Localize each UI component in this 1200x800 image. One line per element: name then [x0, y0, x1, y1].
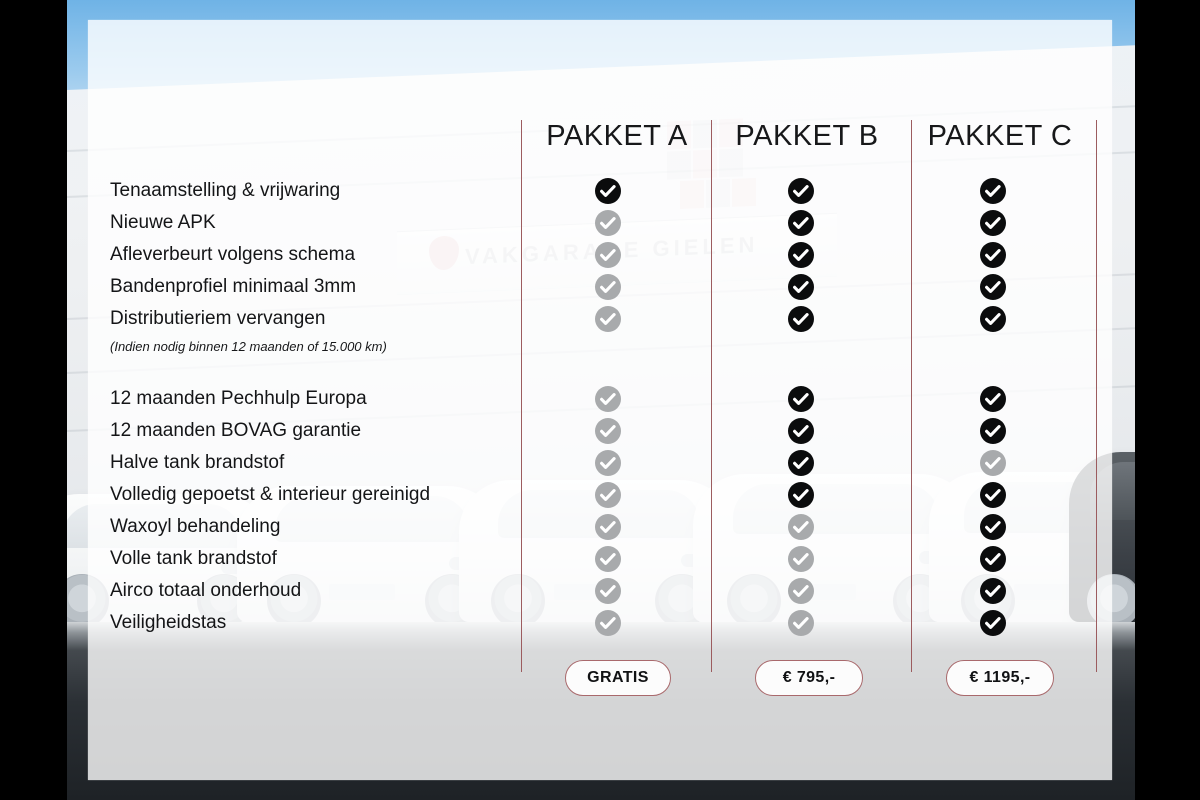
- table-row: Volle tank brandstof: [110, 543, 1110, 575]
- check-excluded-icon: [595, 386, 621, 412]
- check-included-icon: [980, 242, 1006, 268]
- price-pill-pakket-c[interactable]: € 1195,-: [946, 660, 1054, 696]
- feature-label: 12 maanden BOVAG garantie: [110, 415, 361, 447]
- check-excluded-icon: [788, 546, 814, 572]
- table-row: Nieuwe APK: [110, 207, 1110, 239]
- check-excluded-icon: [595, 306, 621, 332]
- footnote-text: (Indien nodig binnen 12 maanden of 15.00…: [110, 335, 387, 359]
- check-excluded-icon: [595, 418, 621, 444]
- check-included-icon: [980, 210, 1006, 236]
- check-included-icon: [980, 610, 1006, 636]
- check-excluded-icon: [595, 514, 621, 540]
- table-row: Halve tank brandstof: [110, 447, 1110, 479]
- feature-label: Distributieriem vervangen: [110, 303, 325, 335]
- check-excluded-icon: [595, 242, 621, 268]
- check-included-icon: [788, 450, 814, 476]
- feature-label: Bandenprofiel minimaal 3mm: [110, 271, 356, 303]
- check-included-icon: [595, 178, 621, 204]
- check-excluded-icon: [595, 210, 621, 236]
- feature-label: Volledig gepoetst & interieur gereinigd: [110, 479, 430, 511]
- check-included-icon: [980, 274, 1006, 300]
- table-row: 12 maanden Pechhulp Europa: [110, 383, 1110, 415]
- check-included-icon: [788, 386, 814, 412]
- check-excluded-icon: [595, 274, 621, 300]
- check-included-icon: [980, 306, 1006, 332]
- feature-label: Afleverbeurt volgens schema: [110, 239, 355, 271]
- table-row: Veiligheidstas: [110, 607, 1110, 639]
- table-row: Volledig gepoetst & interieur gereinigd: [110, 479, 1110, 511]
- column-header-pakket-b: PAKKET B: [712, 120, 902, 153]
- check-included-icon: [788, 482, 814, 508]
- column-header-pakket-a: PAKKET A: [522, 120, 712, 153]
- check-included-icon: [980, 514, 1006, 540]
- feature-label: Veiligheidstas: [110, 607, 226, 639]
- check-included-icon: [980, 578, 1006, 604]
- feature-label: Waxoyl behandeling: [110, 511, 280, 543]
- table-row: 12 maanden BOVAG garantie: [110, 415, 1110, 447]
- feature-label: Volle tank brandstof: [110, 543, 277, 575]
- check-excluded-icon: [595, 482, 621, 508]
- column-header-pakket-c: PAKKET C: [905, 120, 1095, 153]
- table-row: Waxoyl behandeling: [110, 511, 1110, 543]
- check-included-icon: [980, 418, 1006, 444]
- check-included-icon: [980, 546, 1006, 572]
- check-included-icon: [788, 306, 814, 332]
- table-row: Distributieriem vervangen: [110, 303, 1110, 335]
- table-row: Tenaamstelling & vrijwaring: [110, 175, 1110, 207]
- check-included-icon: [788, 210, 814, 236]
- feature-label: 12 maanden Pechhulp Europa: [110, 383, 367, 415]
- check-excluded-icon: [595, 450, 621, 476]
- check-excluded-icon: [595, 546, 621, 572]
- check-excluded-icon: [788, 514, 814, 540]
- check-included-icon: [980, 178, 1006, 204]
- check-included-icon: [788, 242, 814, 268]
- check-excluded-icon: [788, 578, 814, 604]
- screenshot-stage: VAKGARAGE GIELEN: [0, 0, 1200, 800]
- check-included-icon: [980, 482, 1006, 508]
- check-included-icon: [980, 386, 1006, 412]
- feature-label: Halve tank brandstof: [110, 447, 284, 479]
- check-excluded-icon: [595, 610, 621, 636]
- check-included-icon: [788, 274, 814, 300]
- table-row: Airco totaal onderhoud: [110, 575, 1110, 607]
- check-excluded-icon: [788, 610, 814, 636]
- footnote-row: (Indien nodig binnen 12 maanden of 15.00…: [110, 335, 1110, 361]
- check-included-icon: [788, 418, 814, 444]
- price-pill-pakket-b[interactable]: € 795,-: [755, 660, 863, 696]
- check-excluded-icon: [980, 450, 1006, 476]
- pricing-table-card: PAKKET A PAKKET B PAKKET C Tenaamstellin…: [88, 20, 1112, 780]
- table-row: Afleverbeurt volgens schema: [110, 239, 1110, 271]
- feature-label: Nieuwe APK: [110, 207, 216, 239]
- group-spacer: [110, 361, 1110, 383]
- feature-label: Airco totaal onderhoud: [110, 575, 301, 607]
- check-excluded-icon: [595, 578, 621, 604]
- table-row: Bandenprofiel minimaal 3mm: [110, 271, 1110, 303]
- package-comparison-table: PAKKET A PAKKET B PAKKET C Tenaamstellin…: [88, 20, 1112, 780]
- feature-rows: Tenaamstelling & vrijwaringNieuwe APKAfl…: [110, 175, 1110, 639]
- check-included-icon: [788, 178, 814, 204]
- feature-label: Tenaamstelling & vrijwaring: [110, 175, 340, 207]
- price-pill-pakket-a[interactable]: GRATIS: [565, 660, 671, 696]
